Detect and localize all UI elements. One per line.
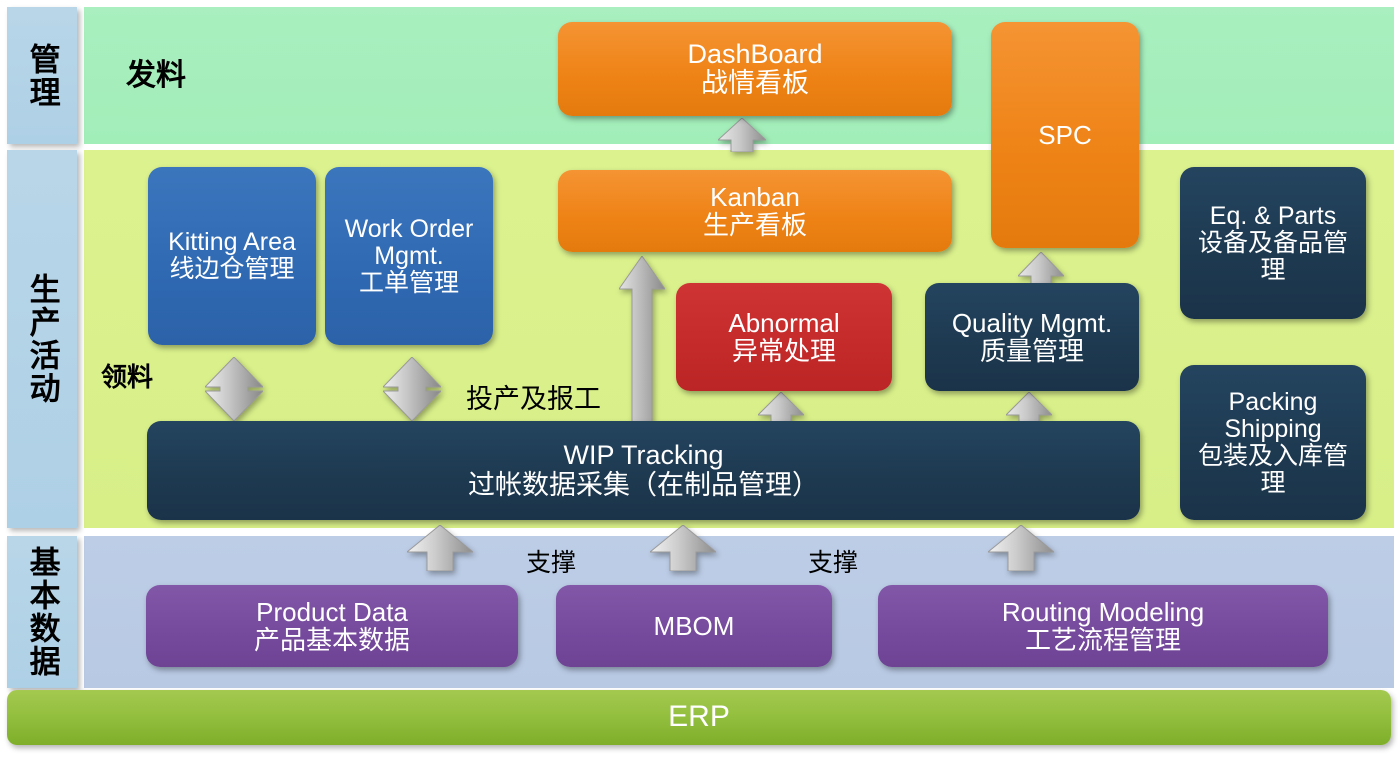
node-abnormal-cn: 异常处理 xyxy=(732,337,836,365)
rail-production-text: 生产活动 xyxy=(24,273,59,405)
arrow-up-kanban-to-dashboard xyxy=(718,118,766,152)
node-product-data-en: Product Data xyxy=(256,598,408,626)
rail-base-data-text: 基本数据 xyxy=(24,546,59,678)
annotation-issue-material: 发料 xyxy=(126,50,186,94)
rail-management-text: 管理 xyxy=(24,43,59,109)
rail-label-base-data: 基本数据 xyxy=(7,536,77,688)
arrow-up-mbom-to-wip xyxy=(650,525,716,571)
node-kanban[interactable]: Kanban 生产看板 xyxy=(558,170,952,252)
annotation-pick-material: 领料 xyxy=(101,357,153,394)
node-kitting-area-cn: 线边仓管理 xyxy=(169,256,294,283)
annotation-production-reporting: 投产及报工 xyxy=(466,377,601,416)
rail-label-production: 生产活动 xyxy=(7,150,77,528)
node-routing-modeling-cn: 工艺流程管理 xyxy=(1025,626,1181,654)
node-kitting-area-en: Kitting Area xyxy=(168,229,296,256)
node-dashboard-cn: 战情看板 xyxy=(701,69,809,98)
node-kanban-en: Kanban xyxy=(710,183,800,211)
node-quality-mgmt[interactable]: Quality Mgmt. 质量管理 xyxy=(925,283,1139,391)
node-product-data[interactable]: Product Data 产品基本数据 xyxy=(146,585,518,667)
node-work-order-mgmt-cn: 工单管理 xyxy=(359,270,459,297)
node-mbom-en: MBOM xyxy=(654,612,735,640)
node-erp[interactable]: ERP xyxy=(7,690,1391,745)
node-wip-tracking-cn: 过帐数据采集（在制品管理） xyxy=(468,471,819,500)
arrow-up-productdata-to-wip xyxy=(407,525,473,571)
node-kitting-area[interactable]: Kitting Area 线边仓管理 xyxy=(148,167,316,345)
node-routing-modeling[interactable]: Routing Modeling 工艺流程管理 xyxy=(878,585,1328,667)
node-erp-en: ERP xyxy=(668,701,730,733)
node-mbom[interactable]: MBOM xyxy=(556,585,832,667)
node-equipment-parts[interactable]: Eq. & Parts 设备及备品管理 xyxy=(1180,167,1366,319)
node-routing-modeling-en: Routing Modeling xyxy=(1002,598,1204,626)
annotation-support-left: 支撑 xyxy=(526,543,576,579)
arrow-up-routing-to-wip xyxy=(988,525,1054,571)
node-kanban-cn: 生产看板 xyxy=(703,211,807,239)
node-work-order-mgmt-en: Work Order Mgmt. xyxy=(331,216,487,270)
node-work-order-mgmt[interactable]: Work Order Mgmt. 工单管理 xyxy=(325,167,493,345)
node-dashboard[interactable]: DashBoard 战情看板 xyxy=(558,22,952,116)
mes-architecture-diagram: 管理 生产活动 基本数据 发料 领料 投产及报工 支撑 支撑 xyxy=(0,0,1398,773)
arrow-double-kitting-to-wip xyxy=(205,357,263,421)
rail-label-management: 管理 xyxy=(7,7,77,144)
node-wip-tracking[interactable]: WIP Tracking 过帐数据采集（在制品管理） xyxy=(147,421,1140,520)
node-packing-shipping-en: Packing Shipping xyxy=(1186,389,1360,443)
node-spc-en: SPC xyxy=(1038,121,1091,149)
node-dashboard-en: DashBoard xyxy=(687,40,822,69)
node-equipment-parts-cn: 设备及备品管理 xyxy=(1186,230,1360,284)
arrow-up-wip-to-kanban xyxy=(619,256,665,424)
node-spc[interactable]: SPC xyxy=(991,22,1139,248)
node-abnormal[interactable]: Abnormal 异常处理 xyxy=(676,283,892,391)
node-equipment-parts-en: Eq. & Parts xyxy=(1210,203,1336,230)
node-quality-mgmt-en: Quality Mgmt. xyxy=(952,309,1112,337)
node-wip-tracking-en: WIP Tracking xyxy=(563,441,723,470)
node-abnormal-en: Abnormal xyxy=(728,309,839,337)
annotation-support-right: 支撑 xyxy=(808,543,858,579)
node-packing-shipping-cn: 包装及入库管理 xyxy=(1186,443,1360,497)
arrow-double-workorder-to-wip xyxy=(383,357,441,421)
node-product-data-cn: 产品基本数据 xyxy=(254,626,410,654)
node-packing-shipping[interactable]: Packing Shipping 包装及入库管理 xyxy=(1180,365,1366,520)
node-quality-mgmt-cn: 质量管理 xyxy=(980,337,1084,365)
